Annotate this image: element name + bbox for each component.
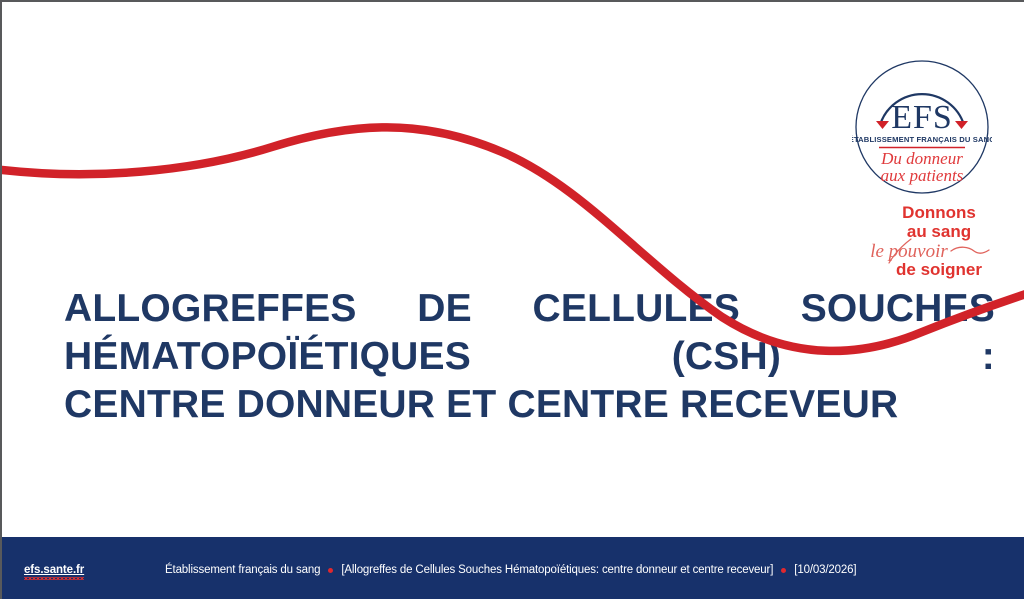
- title-line-1: ALLOGREFFES DE CELLULES SOUCHES: [64, 285, 995, 333]
- efs-tagline: Donnons au sang le pouvoir de soigner: [847, 201, 997, 279]
- footer-separator-dot: [328, 568, 333, 573]
- title-word: (CSH): [672, 333, 781, 381]
- tagline-line3: de soigner: [896, 260, 982, 279]
- footer-separator-dot: [781, 568, 786, 573]
- efs-roundel-logo: EFS ÉTABLISSEMENT FRANÇAIS DU SANG Du do…: [852, 57, 992, 197]
- title-word: ALLOGREFFES: [64, 285, 357, 333]
- slide-footer: efs.sante.fr Établissement français du s…: [2, 537, 1024, 599]
- title-word: HÉMATOPOÏÉTIQUES: [64, 333, 471, 381]
- title-line-3: CENTRE DONNEUR ET CENTRE RECEVEUR: [64, 381, 995, 429]
- tagline-line1: Donnons: [902, 203, 976, 222]
- efs-logo-block: EFS ÉTABLISSEMENT FRANÇAIS DU SANG Du do…: [842, 57, 1002, 279]
- svg-text:EFS: EFS: [891, 99, 953, 136]
- title-word: CELLULES: [533, 285, 740, 333]
- footer-site-link[interactable]: efs.sante.fr: [24, 564, 84, 576]
- title-line-2: HÉMATOPOÏÉTIQUES (CSH) :: [64, 333, 995, 381]
- title-word: :: [982, 333, 995, 381]
- title-word: DE: [417, 285, 472, 333]
- title-word: SOUCHES: [801, 285, 995, 333]
- efs-logo-subtitle: ÉTABLISSEMENT FRANÇAIS DU SANG: [852, 135, 992, 144]
- title-slide: EFS ÉTABLISSEMENT FRANÇAIS DU SANG Du do…: [0, 0, 1024, 599]
- footer-date: [10/03/2026]: [794, 564, 856, 576]
- footer-meta: Établissement français du sang [Allogref…: [165, 564, 856, 576]
- page-title: ALLOGREFFES DE CELLULES SOUCHES HÉMATOPO…: [64, 285, 995, 429]
- tagline-line2: au sang: [907, 222, 971, 241]
- footer-document-title: [Allogreffes de Cellules Souches Hématop…: [341, 564, 773, 576]
- efs-logo-script-line2: aux patients: [881, 166, 964, 185]
- footer-organisation: Établissement français du sang: [165, 564, 320, 576]
- tagline-script: le pouvoir: [870, 241, 948, 262]
